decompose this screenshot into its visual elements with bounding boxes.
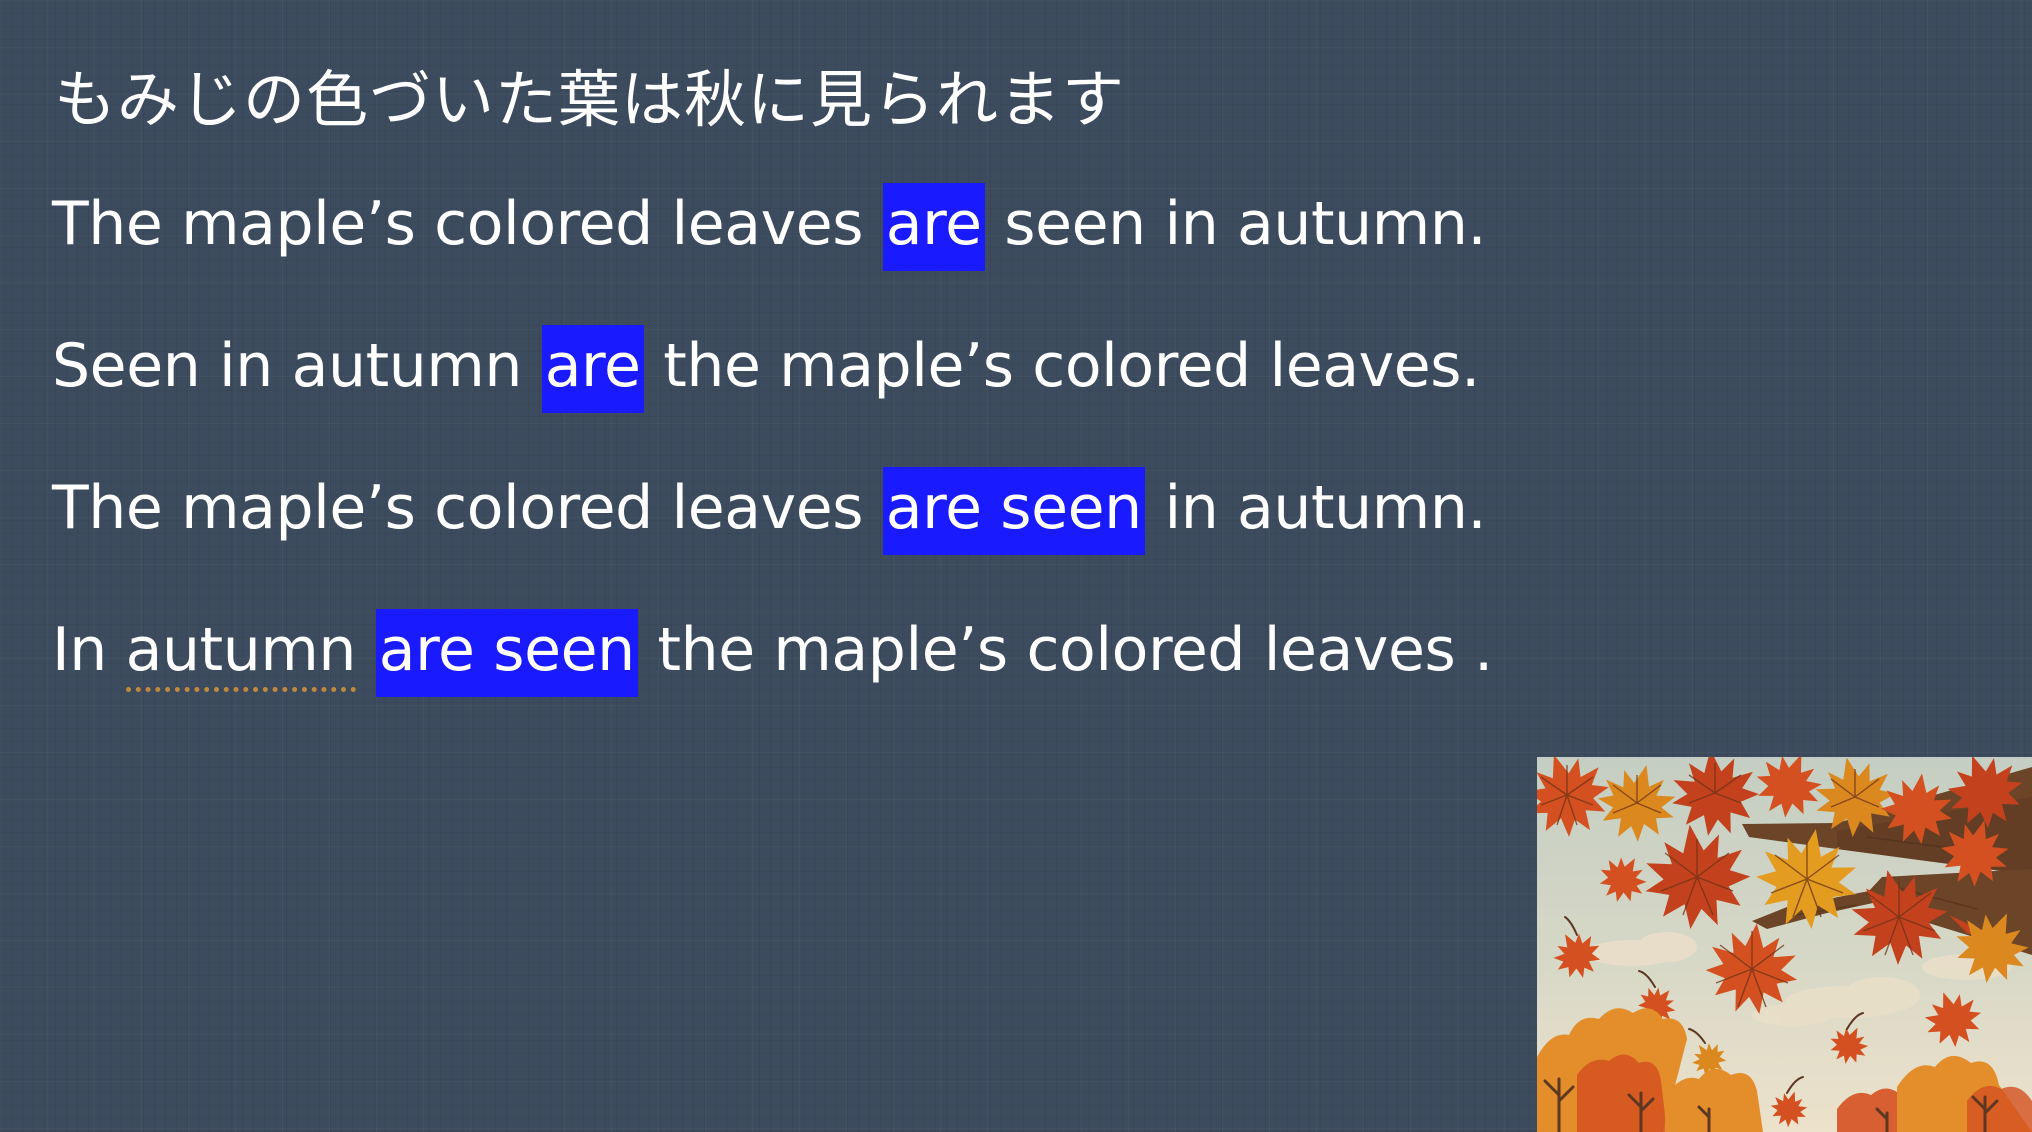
- sentence-4-lead: In: [52, 615, 126, 685]
- sentence-3-before: The maple’s colored leaves: [52, 473, 882, 543]
- sentence-4-mid: [356, 615, 375, 685]
- japanese-sentence: もみじの色づいた葉は秋に見られます: [52, 52, 1952, 148]
- sentence-3-after: in autumn.: [1146, 473, 1486, 543]
- sentence-4-after: the maple’s colored leaves .: [639, 615, 1493, 685]
- english-sentence-4: In autumn are seen the maple’s colored l…: [52, 602, 1952, 698]
- english-sentence-1: The maple’s colored leaves are seen in a…: [52, 176, 1952, 272]
- english-sentence-2: Seen in autumn are the maple’s colored l…: [52, 318, 1952, 414]
- sentence-1-before: The maple’s colored leaves: [52, 189, 882, 259]
- sentence-2-after: the maple’s colored leaves.: [645, 331, 1480, 401]
- slide-canvas: もみじの色づいた葉は秋に見られます The maple’s colored le…: [0, 0, 2032, 1132]
- autumn-maple-illustration: [1537, 757, 2032, 1132]
- sentence-3-highlight[interactable]: are seen: [883, 467, 1145, 555]
- grammar-marked-word[interactable]: autumn: [126, 615, 356, 692]
- sentence-1-highlight[interactable]: are: [883, 183, 985, 271]
- sentence-list: もみじの色づいた葉は秋に見られます The maple’s colored le…: [52, 52, 1952, 698]
- sentence-4-highlight[interactable]: are seen: [376, 609, 638, 697]
- sentence-1-after: seen in autumn.: [986, 189, 1487, 259]
- sentence-2-before: Seen in autumn: [52, 331, 541, 401]
- english-sentence-3: The maple’s colored leaves are seen in a…: [52, 460, 1952, 556]
- sentence-2-highlight[interactable]: are: [542, 325, 644, 413]
